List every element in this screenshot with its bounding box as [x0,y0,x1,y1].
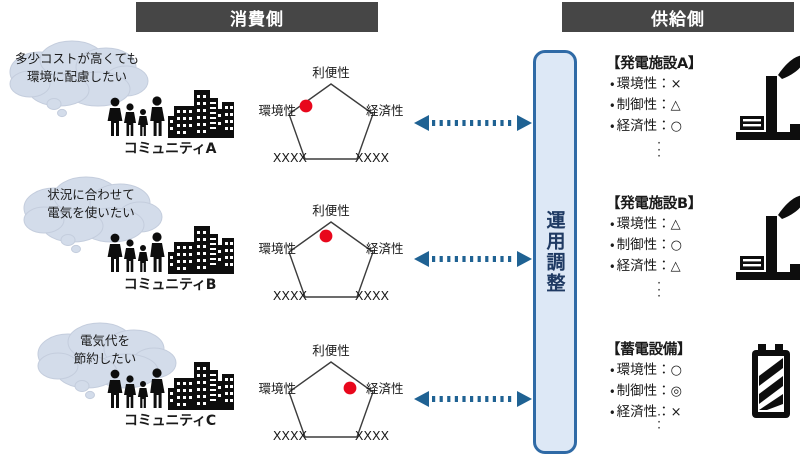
facility-attribute-row: ・経済性：× [610,402,682,423]
people-and-city-icon [106,220,234,274]
demand-side-header: 消費側 [136,2,378,32]
bullet-icon: ・ [610,97,615,113]
supply-side-header: 供給側 [562,2,794,32]
facility-attribute-mark: × [671,405,682,420]
power-plant-icon [734,194,800,290]
facility-attribute-row: ・環境性：○ [610,360,682,381]
bidirectional-dotted-arrow-icon [414,248,532,270]
bullet-icon: ・ [610,362,615,378]
bidirectional-dotted-arrow-icon [414,388,532,410]
facility-attribute-label: 経済性 [617,118,658,134]
radar-axis-label-bottom-right: XXXX [346,288,398,303]
facility-title: 【発電施設A】 [606,52,702,73]
radar-axis-label-left: 環境性 [238,238,296,257]
radar-axis-label-bottom-right: XXXX [346,428,398,443]
facility-block-storage: 【蓄電設備】 ・環境性：○ ・制御性：◎ ・経済性：× ··· [600,338,800,458]
facility-attribute-label: 環境性 [617,76,658,92]
battery-icon [734,340,800,436]
bullet-icon: ・ [610,404,615,420]
radar-axis-label-left: 環境性 [238,100,296,119]
community-c-label: コミュニティC [106,410,234,430]
facility-attribute-label: 環境性 [617,216,658,232]
facility-attribute-label: 制御性 [617,237,658,253]
facility-title: 【蓄電設備】 [606,338,691,359]
radar-marker-dot [320,230,333,243]
facility-attribute-row: ・制御性：○ [610,235,682,256]
people-and-city-icon [106,84,234,138]
demand-side-header-label: 消費側 [230,5,284,30]
facility-attribute-row: ・経済性：○ [610,116,682,137]
facility-attribute-mark: △ [671,259,681,274]
facility-title: 【発電施設B】 [606,192,702,213]
bidirectional-arrow-a [414,112,532,134]
radar-axis-label-bottom-right: XXXX [346,150,398,165]
bullet-icon: ・ [610,237,615,253]
facility-attribute-label: 制御性 [617,383,658,399]
bullet-icon: ・ [610,383,615,399]
facility-attribute-row: ・環境性：× [610,74,682,95]
radar-axis-label-top: 利便性 [246,340,416,359]
community-a-label: コミュニティA [106,138,234,158]
operation-adjustment-box [533,50,577,454]
radar-chart-community-b: 利便性 環境性 経済性 XXXX XXXX [246,200,416,306]
supply-side-header-label: 供給側 [651,5,705,30]
community-c: コミュニティC [106,356,234,434]
facility-attribute-mark: △ [671,217,681,232]
facility-attribute-list: ・環境性：○ ・制御性：◎ ・経済性：× [610,360,682,423]
radar-axis-label-left: 環境性 [238,378,296,397]
bidirectional-arrow-c [414,388,532,410]
radar-axis-label-bottom-left: XXXX [264,150,316,165]
radar-axis-label-bottom-left: XXXX [264,288,316,303]
facility-attribute-label: 環境性 [617,362,658,378]
facility-attribute-mark: ○ [671,238,682,253]
radar-chart-community-c: 利便性 環境性 経済性 XXXX XXXX [246,340,416,446]
radar-axis-label-bottom-left: XXXX [264,428,316,443]
radar-chart-community-a: 利便性 環境性 経済性 XXXX XXXX [246,62,416,168]
people-and-city-icon [106,356,234,410]
facility-attribute-mark: ○ [671,363,682,378]
facility-block-b: 【発電施設B】 ・環境性：△ ・制御性：○ ・経済性：△ ··· [600,192,800,312]
facility-attribute-mark: ◎ [671,384,682,399]
bidirectional-dotted-arrow-icon [414,112,532,134]
radar-marker-dot [344,382,357,395]
facility-attribute-list: ・環境性：△ ・制御性：○ ・経済性：△ [610,214,682,277]
facility-attribute-list: ・環境性：× ・制御性：△ ・経済性：○ [610,74,682,137]
facility-attribute-label: 制御性 [617,97,658,113]
facility-continuation-dots: ··· [652,280,666,300]
facility-continuation-dots: ··· [652,412,666,432]
facility-attribute-mark: × [671,77,682,92]
bullet-icon: ・ [610,76,615,92]
bullet-icon: ・ [610,118,615,134]
community-b: コミュニティB [106,220,234,298]
bullet-icon: ・ [610,216,615,232]
power-plant-icon [734,54,800,150]
community-b-label: コミュニティB [106,274,234,294]
community-a: コミュニティA [106,84,234,162]
facility-attribute-row: ・制御性：◎ [610,381,682,402]
facility-attribute-mark: ○ [671,119,682,134]
facility-attribute-row: ・環境性：△ [610,214,682,235]
facility-attribute-mark: △ [671,98,681,113]
facility-attribute-row: ・制御性：△ [610,95,682,116]
bullet-icon: ・ [610,258,615,274]
diagram-canvas: 消費側 供給側 多少コストが高くても 環境に配慮したい [0,0,800,462]
bidirectional-arrow-b [414,248,532,270]
radar-marker-dot [300,100,313,113]
facility-attribute-label: 経済性 [617,258,658,274]
radar-axis-label-top: 利便性 [246,62,416,81]
facility-attribute-row: ・経済性：△ [610,256,682,277]
radar-axis-label-top: 利便性 [246,200,416,219]
facility-continuation-dots: ··· [652,140,666,160]
facility-block-a: 【発電施設A】 ・環境性：× ・制御性：△ ・経済性：○ ··· [600,52,800,172]
